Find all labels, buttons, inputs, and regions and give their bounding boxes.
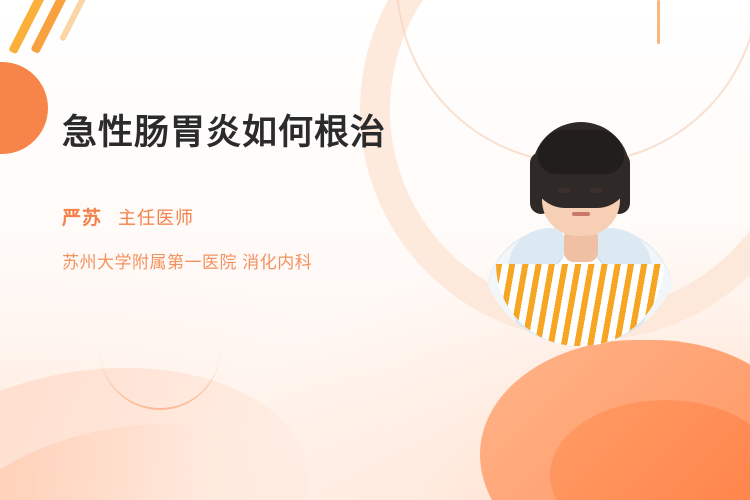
health-video-cover-card: 急性肠胃炎如何根治 严苏 主任医师 苏州大学附属第一医院 消化内科 (0, 0, 750, 500)
text-block: 急性肠胃炎如何根治 严苏 主任医师 苏州大学附属第一医院 消化内科 (62, 112, 442, 273)
doctor-portrait: 主任 (480, 96, 680, 346)
eye-right (590, 188, 602, 193)
doctor-affiliation: 苏州大学附属第一医院 消化内科 (62, 248, 442, 273)
mouth (572, 212, 590, 216)
doctor-name: 严苏 (62, 203, 102, 230)
eyebrow-right (588, 178, 604, 181)
doctor-title: 主任医师 (118, 204, 194, 230)
hair-fringe (538, 130, 624, 174)
eyebrow-left (556, 178, 572, 181)
doctor-line: 严苏 主任医师 (62, 203, 442, 230)
eye-left (558, 188, 570, 193)
page-title: 急性肠胃炎如何根治 (62, 112, 442, 155)
